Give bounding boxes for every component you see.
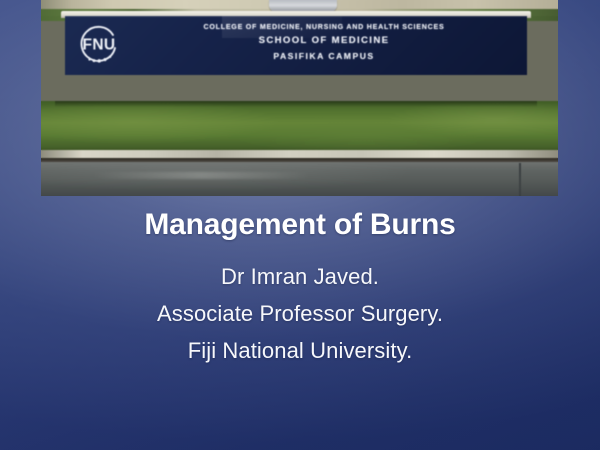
fnu-logo-icon: FNU	[75, 21, 123, 69]
sign-line-3: PASIFIKA CAMPUS	[127, 49, 521, 64]
campus-sign-photo: FNU COLLEGE OF MEDICINE, NURSING AND HEA…	[41, 0, 558, 196]
presentation-title-slide: FNU COLLEGE OF MEDICINE, NURSING AND HEA…	[0, 0, 600, 450]
subtitle-line-institution: Fiji National University.	[0, 332, 600, 369]
signboard: FNU COLLEGE OF MEDICINE, NURSING AND HEA…	[65, 16, 527, 75]
plinth-shadow	[55, 101, 537, 107]
sign-line-2: SCHOOL OF MEDICINE	[127, 33, 521, 49]
sign-text-block: COLLEGE OF MEDICINE, NURSING AND HEALTH …	[127, 21, 521, 64]
subtitle-line-author: Dr Imran Javed.	[0, 258, 600, 295]
slide-subtitle: Dr Imran Javed. Associate Professor Surg…	[0, 258, 600, 369]
svg-text:FNU: FNU	[82, 37, 115, 54]
asphalt-road	[41, 162, 558, 196]
grass-verge	[41, 101, 558, 153]
slide-title: Management of Burns	[0, 208, 600, 242]
road-streak	[93, 172, 310, 179]
sign-line-1: COLLEGE OF MEDICINE, NURSING AND HEALTH …	[127, 21, 521, 33]
roadside-pole	[519, 163, 521, 196]
subtitle-line-role: Associate Professor Surgery.	[0, 295, 600, 332]
